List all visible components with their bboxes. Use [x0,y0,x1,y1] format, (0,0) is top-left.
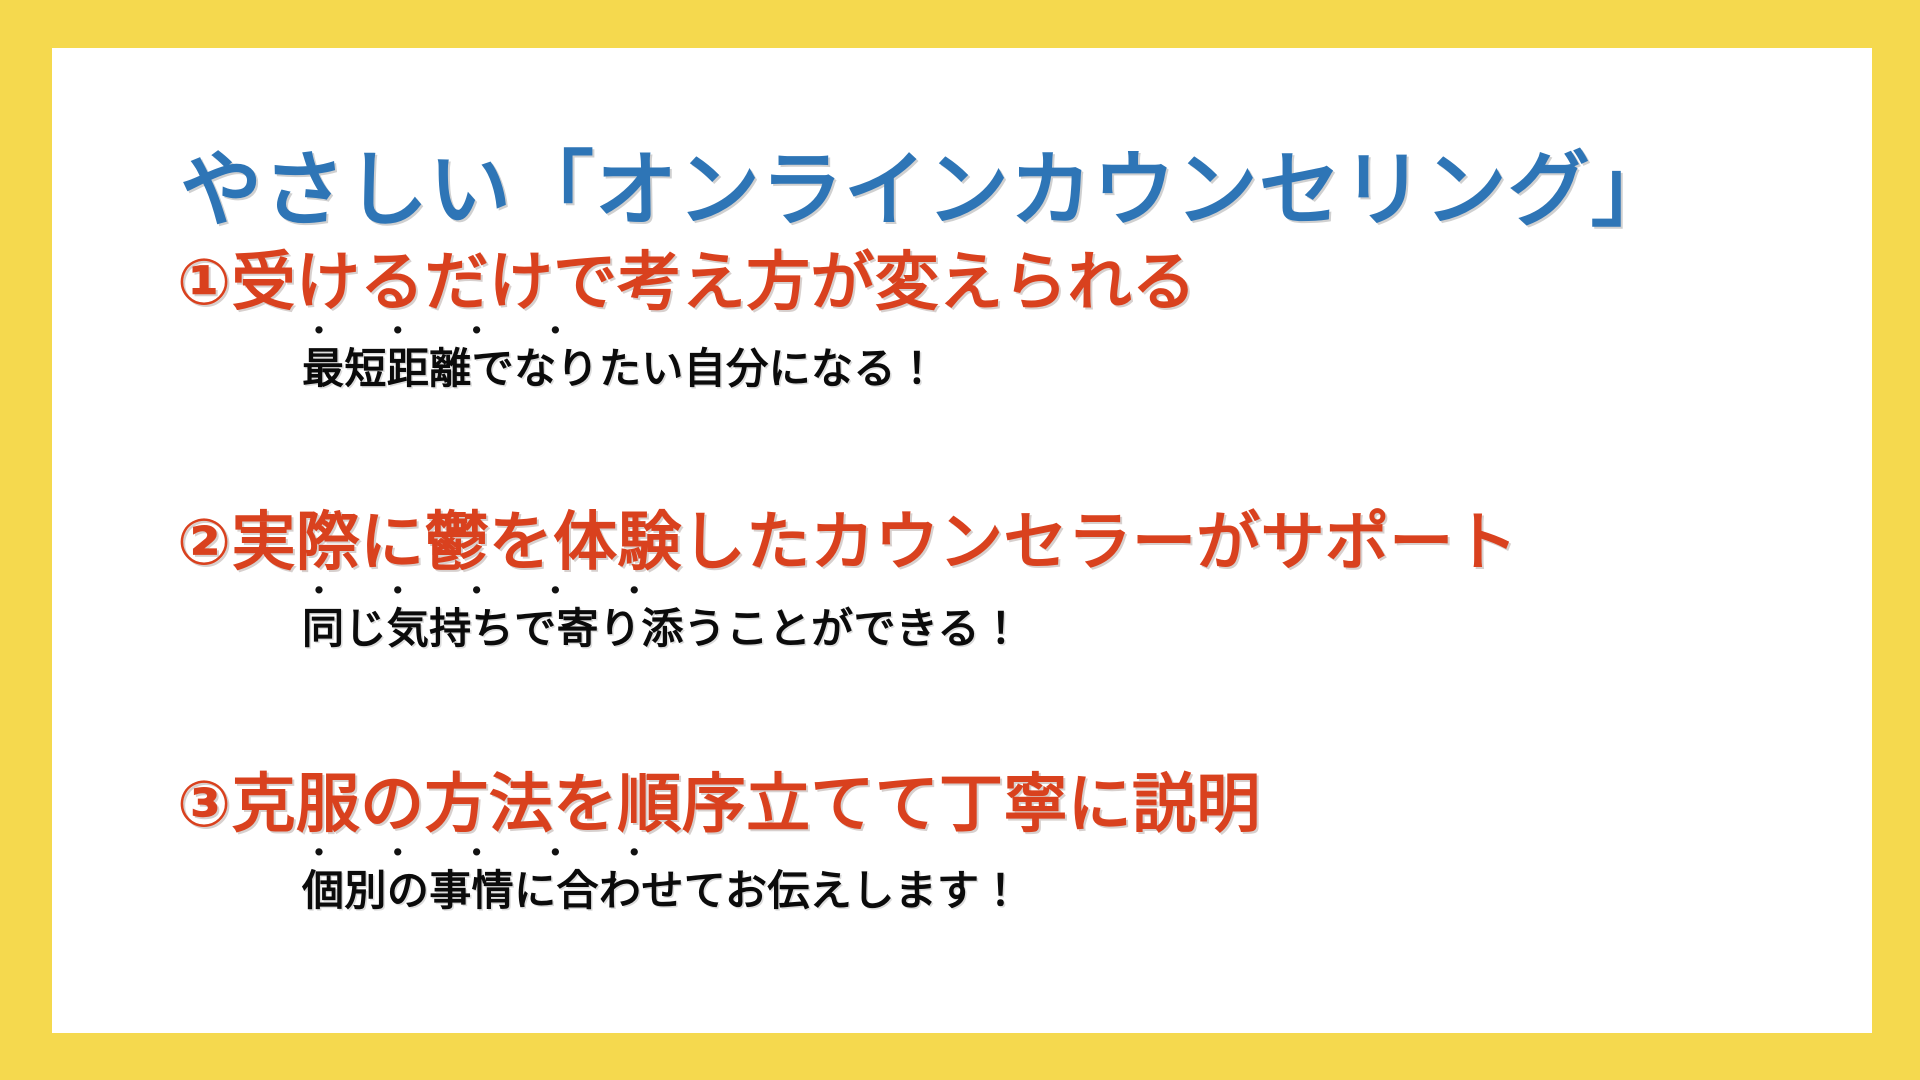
benefit-item-2: ②実際に鬱を体験したカウンセラーがサポート ・ ・ ・ ・ ・ 同じ気持ちで寄り… [52,508,1872,656]
benefit-sub-wrap-1: ・ ・ ・ ・ 最短距離でなりたい自分になる！ [52,321,1872,396]
emphasis-dots-2: ・ ・ ・ ・ ・ [302,581,1872,603]
slide-content-panel: やさしい「オンラインカウンセリング」 ①受けるだけで考え方が変えられる ・ ・ … [52,48,1872,1033]
benefit-sub-wrap-3: ・ ・ ・ ・ ・ 個別の事情に合わせてお伝えします！ [52,843,1872,918]
benefit-heading-1: ①受けるだけで考え方が変えられる [52,248,1872,317]
benefit-heading-2: ②実際に鬱を体験したカウンセラーがサポート [52,508,1872,577]
benefit-sub-3: 個別の事情に合わせてお伝えします！ [302,865,1872,918]
benefit-sub-2: 同じ気持ちで寄り添うことができる！ [302,603,1872,656]
emphasis-dots-1: ・ ・ ・ ・ [302,321,1872,343]
benefit-item-3: ③克服の方法を順序立てて丁寧に説明 ・ ・ ・ ・ ・ 個別の事情に合わせてお伝… [52,770,1872,918]
benefit-sub-wrap-2: ・ ・ ・ ・ ・ 同じ気持ちで寄り添うことができる！ [52,581,1872,656]
benefit-item-1: ①受けるだけで考え方が変えられる ・ ・ ・ ・ 最短距離でなりたい自分になる！ [52,248,1872,396]
benefit-sub-1: 最短距離でなりたい自分になる！ [302,343,1872,396]
page-title: やさしい「オンラインカウンセリング」 [180,148,1820,234]
benefit-heading-3: ③克服の方法を順序立てて丁寧に説明 [52,770,1872,839]
slide-canvas: やさしい「オンラインカウンセリング」 ①受けるだけで考え方が変えられる ・ ・ … [0,0,1920,1080]
emphasis-dots-3: ・ ・ ・ ・ ・ [302,843,1872,865]
